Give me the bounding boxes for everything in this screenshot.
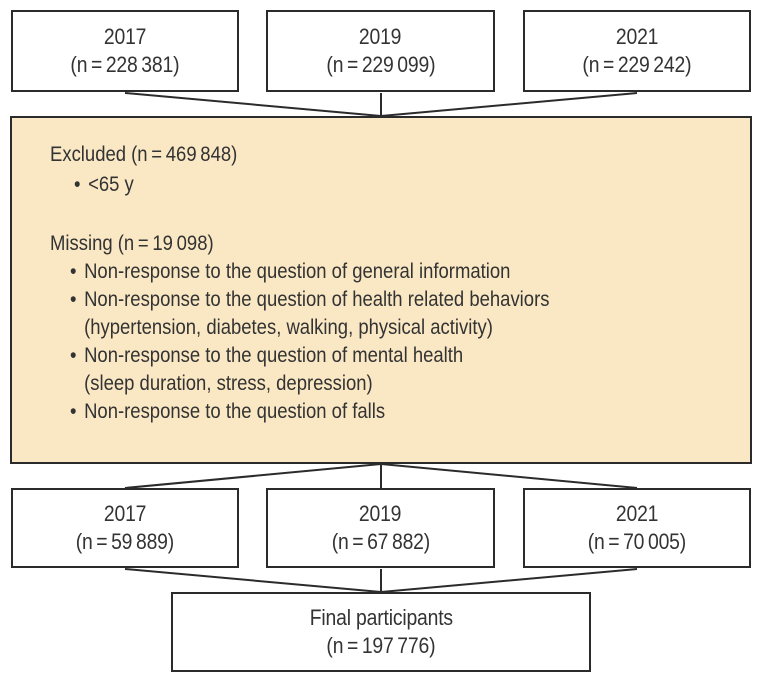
node-final-participants: Final participants (n = 197 776) — [171, 592, 591, 672]
node-cohort-2017-initial: 2017 (n = 228 381) — [11, 10, 239, 92]
node-cohort-2021-initial: 2021 (n = 229 242) — [523, 10, 751, 92]
list-item: • <65 y — [74, 171, 669, 199]
cohort-year-label: 2017 — [104, 500, 146, 528]
list-item-label: Non-response to the question of falls — [70, 398, 385, 426]
cohort-count-label: (n = 228 381) — [71, 51, 180, 79]
list-item: • Non-response to the question of mental… — [70, 342, 668, 370]
list-item-continuation-label: (sleep duration, stress, depression) — [70, 370, 373, 398]
cohort-count-label: (n = 59 889) — [76, 528, 174, 556]
bullet-icon: • — [70, 342, 76, 370]
bullet-icon: • — [70, 258, 76, 286]
final-participants-label: Final participants — [309, 604, 452, 632]
connector-bottom-right — [381, 569, 637, 592]
node-cohort-2019-final: 2019 (n = 67 882) — [266, 488, 495, 568]
list-item-continuation-label: (hypertension, diabetes, walking, physic… — [70, 314, 493, 342]
node-cohort-2017-final: 2017 (n = 59 889) — [11, 488, 239, 568]
bullet-icon: • — [74, 171, 80, 199]
excluded-heading: Excluded (n = 469 848) — [50, 144, 666, 165]
cohort-year-label: 2019 — [359, 500, 401, 528]
connector-top-left — [125, 93, 381, 116]
cohort-year-label: 2017 — [104, 23, 146, 51]
cohort-count-label: (n = 229 242) — [583, 51, 692, 79]
cohort-count-label: (n = 229 099) — [326, 51, 435, 79]
missing-heading: Missing (n = 19 098) — [50, 233, 666, 254]
connector-bottom-left — [125, 569, 381, 592]
list-item: • Non-response to the question of falls — [70, 398, 668, 426]
connector-top-right — [381, 93, 637, 116]
cohort-year-label: 2021 — [616, 500, 658, 528]
cohort-year-label: 2019 — [359, 23, 401, 51]
final-participants-count: (n = 197 776) — [327, 632, 436, 660]
bullet-icon: • — [70, 398, 76, 426]
node-cohort-2019-initial: 2019 (n = 229 099) — [266, 10, 495, 92]
missing-criteria-list: • Non-response to the question of genera… — [70, 258, 750, 426]
exclusion-criteria-panel: Excluded (n = 469 848) • <65 y Missing (… — [10, 116, 752, 464]
bullet-icon: • — [70, 286, 76, 314]
cohort-count-label: (n = 67 882) — [331, 528, 429, 556]
list-item: • Non-response to the question of genera… — [70, 258, 668, 286]
cohort-year-label: 2021 — [616, 23, 658, 51]
connector-mid-right — [381, 464, 637, 488]
node-cohort-2021-final: 2021 (n = 70 005) — [523, 488, 751, 568]
list-item-label: Non-response to the question of health r… — [70, 286, 549, 314]
list-item-label: Non-response to the question of general … — [70, 258, 510, 286]
participant-flow-diagram: 2017 (n = 228 381) 2019 (n = 229 099) 20… — [0, 0, 762, 684]
list-item-continuation: (sleep duration, stress, depression) — [70, 370, 668, 398]
excluded-criteria-list: • <65 y — [74, 171, 750, 199]
cohort-count-label: (n = 70 005) — [588, 528, 686, 556]
connector-mid-left — [125, 464, 381, 488]
list-item-continuation: (hypertension, diabetes, walking, physic… — [70, 314, 668, 342]
list-item: • Non-response to the question of health… — [70, 286, 668, 314]
list-item-label: Non-response to the question of mental h… — [70, 342, 463, 370]
list-item-label: <65 y — [74, 171, 134, 199]
